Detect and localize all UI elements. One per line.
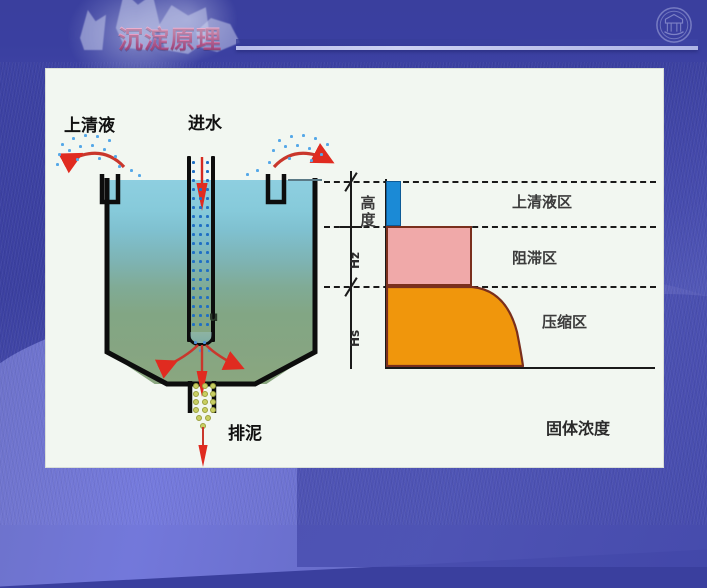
dimension-label-hs: Hs (348, 330, 362, 347)
label-sludge-discharge: 排泥 (228, 419, 262, 444)
bar-supernatant-zone (386, 181, 401, 226)
y-axis-label-text: 高度 (360, 194, 375, 229)
axis-tick-middle (340, 226, 362, 228)
institutional-emblem-icon (655, 6, 693, 44)
down-arrow-icon-sludge (195, 427, 211, 469)
label-settling-velocity: u (209, 310, 218, 325)
page-title: 沉淀原理 (118, 20, 222, 56)
settling-tank-diagram: 上清液 进水 (46, 69, 356, 467)
title-bar: 沉淀原理 (0, 22, 707, 56)
chart-y-axis-label: 高度 (360, 195, 376, 229)
pipe-wall-left (187, 156, 191, 342)
bar-hindered-zone (386, 226, 472, 286)
dashed-boundary-water-surface (324, 181, 656, 183)
concentration-profile-chart: Hz Hs 高度 上清液区 阻滞区 压缩区 固体浓度 (324, 143, 656, 443)
title-divider-rule (236, 46, 698, 50)
label-supernatant: 上清液 (64, 111, 115, 136)
zone-label-compression: 压缩区 (542, 311, 587, 332)
dimension-label-hz: Hz (348, 252, 362, 269)
title-rule-shadow (236, 39, 698, 46)
chart-x-axis-label: 固体浓度 (546, 415, 610, 439)
curved-left-arrow-icon (54, 141, 130, 183)
label-influent: 进水 (188, 109, 222, 134)
zone-label-supernatant: 上清液区 (512, 191, 572, 212)
bar-compression-zone (386, 286, 524, 367)
zone-label-hindered: 阻滞区 (512, 247, 557, 268)
chart-x-axis (385, 367, 655, 369)
diagram-panel: 上清液 进水 (45, 68, 664, 468)
down-arrow-icon-influent (194, 157, 210, 213)
